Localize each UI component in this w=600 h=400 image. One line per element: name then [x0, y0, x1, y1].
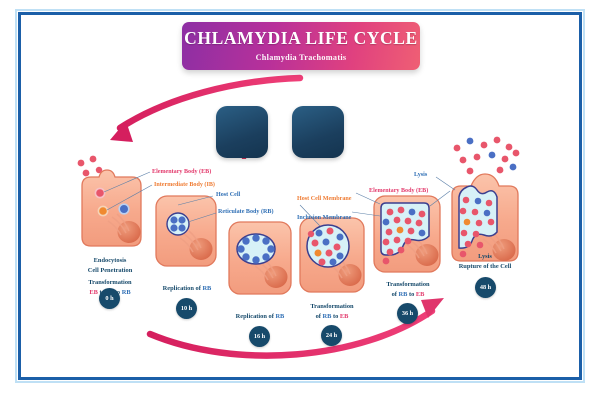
- rb-particle: [119, 204, 129, 214]
- female-anatomy-tile[interactable]: [216, 106, 268, 158]
- eb-particle: [95, 188, 104, 197]
- time-badge-0h[interactable]: 0 h: [99, 288, 120, 309]
- diagram-canvas: CHLAMYDIA LIFE CYCLE Chlamydia Trachomat…: [0, 0, 600, 400]
- cell-stage-10h: [156, 196, 216, 266]
- callout-host-cell-membrane: Host Cell Membrane: [297, 196, 352, 204]
- callout-elementary-body-2: Elementary Body (EB): [369, 188, 428, 196]
- callout-intermediate-body: Intermediate Body (IB): [154, 182, 215, 190]
- stage-48h-line2: Rupture of the Cell: [435, 262, 535, 272]
- rb-particle: [178, 216, 185, 223]
- stage-24h-line2: of RB to EB: [286, 312, 378, 322]
- callout-lysis: Lysis: [414, 172, 427, 180]
- stage-10h-line1: Replication of RB: [141, 284, 233, 294]
- male-anatomy-tile[interactable]: [292, 106, 344, 158]
- stage-48h-line1: Lysis: [435, 252, 535, 262]
- rb-particle: [178, 224, 185, 231]
- eb-particle: [83, 170, 90, 177]
- page-subtitle: Chlamydia Trachomatis: [256, 53, 347, 62]
- time-badge-36h[interactable]: 36 h: [397, 303, 418, 324]
- page-title: CHLAMYDIA LIFE CYCLE: [184, 30, 418, 48]
- time-badge-16h[interactable]: 16 h: [249, 326, 270, 347]
- ib-particle: [98, 206, 107, 215]
- callout-elementary-body: Elementary Body (EB): [152, 169, 211, 177]
- stage-36h-line2: of RB to EB: [362, 290, 454, 300]
- stage-caption-10h: Replication of RB: [141, 284, 233, 294]
- cycle-arrow-top-left: [110, 78, 300, 142]
- time-badge-48h[interactable]: 48 h: [475, 277, 496, 298]
- eb-particle: [78, 160, 85, 167]
- time-badge-10h[interactable]: 10 h: [176, 298, 197, 319]
- cell-stage-0h: [78, 156, 152, 246]
- cell-stage-48h-lysis: [436, 137, 519, 261]
- callout-host-cell: Host Cell: [216, 192, 240, 200]
- released-particles: [454, 137, 520, 175]
- rb-particle: [170, 224, 177, 231]
- stage-36h-line1: Transformation: [362, 280, 454, 290]
- stage-caption-48h: Lysis Rupture of the Cell: [435, 252, 535, 271]
- time-badge-24h[interactable]: 24 h: [321, 325, 342, 346]
- eb-particle: [90, 156, 97, 163]
- title-banner: CHLAMYDIA LIFE CYCLE Chlamydia Trachomat…: [182, 22, 420, 70]
- stage-0h-line2: Cell Penetration: [62, 266, 158, 276]
- stage-caption-24h: Transformation of RB to EB: [286, 302, 378, 321]
- rb-particle: [170, 216, 177, 223]
- cell-stage-16h: [229, 222, 291, 294]
- stage-caption-36h: Transformation of RB to EB: [362, 280, 454, 299]
- callout-reticulate-body: Reticulate Body (RB): [218, 209, 274, 217]
- inclusion-vacuole: [167, 213, 189, 235]
- stage-0h-line1: Endocytosis: [62, 256, 158, 266]
- callout-inclusion-membrane: Inclusion Membrane: [297, 215, 351, 223]
- stage-24h-line1: Transformation: [286, 302, 378, 312]
